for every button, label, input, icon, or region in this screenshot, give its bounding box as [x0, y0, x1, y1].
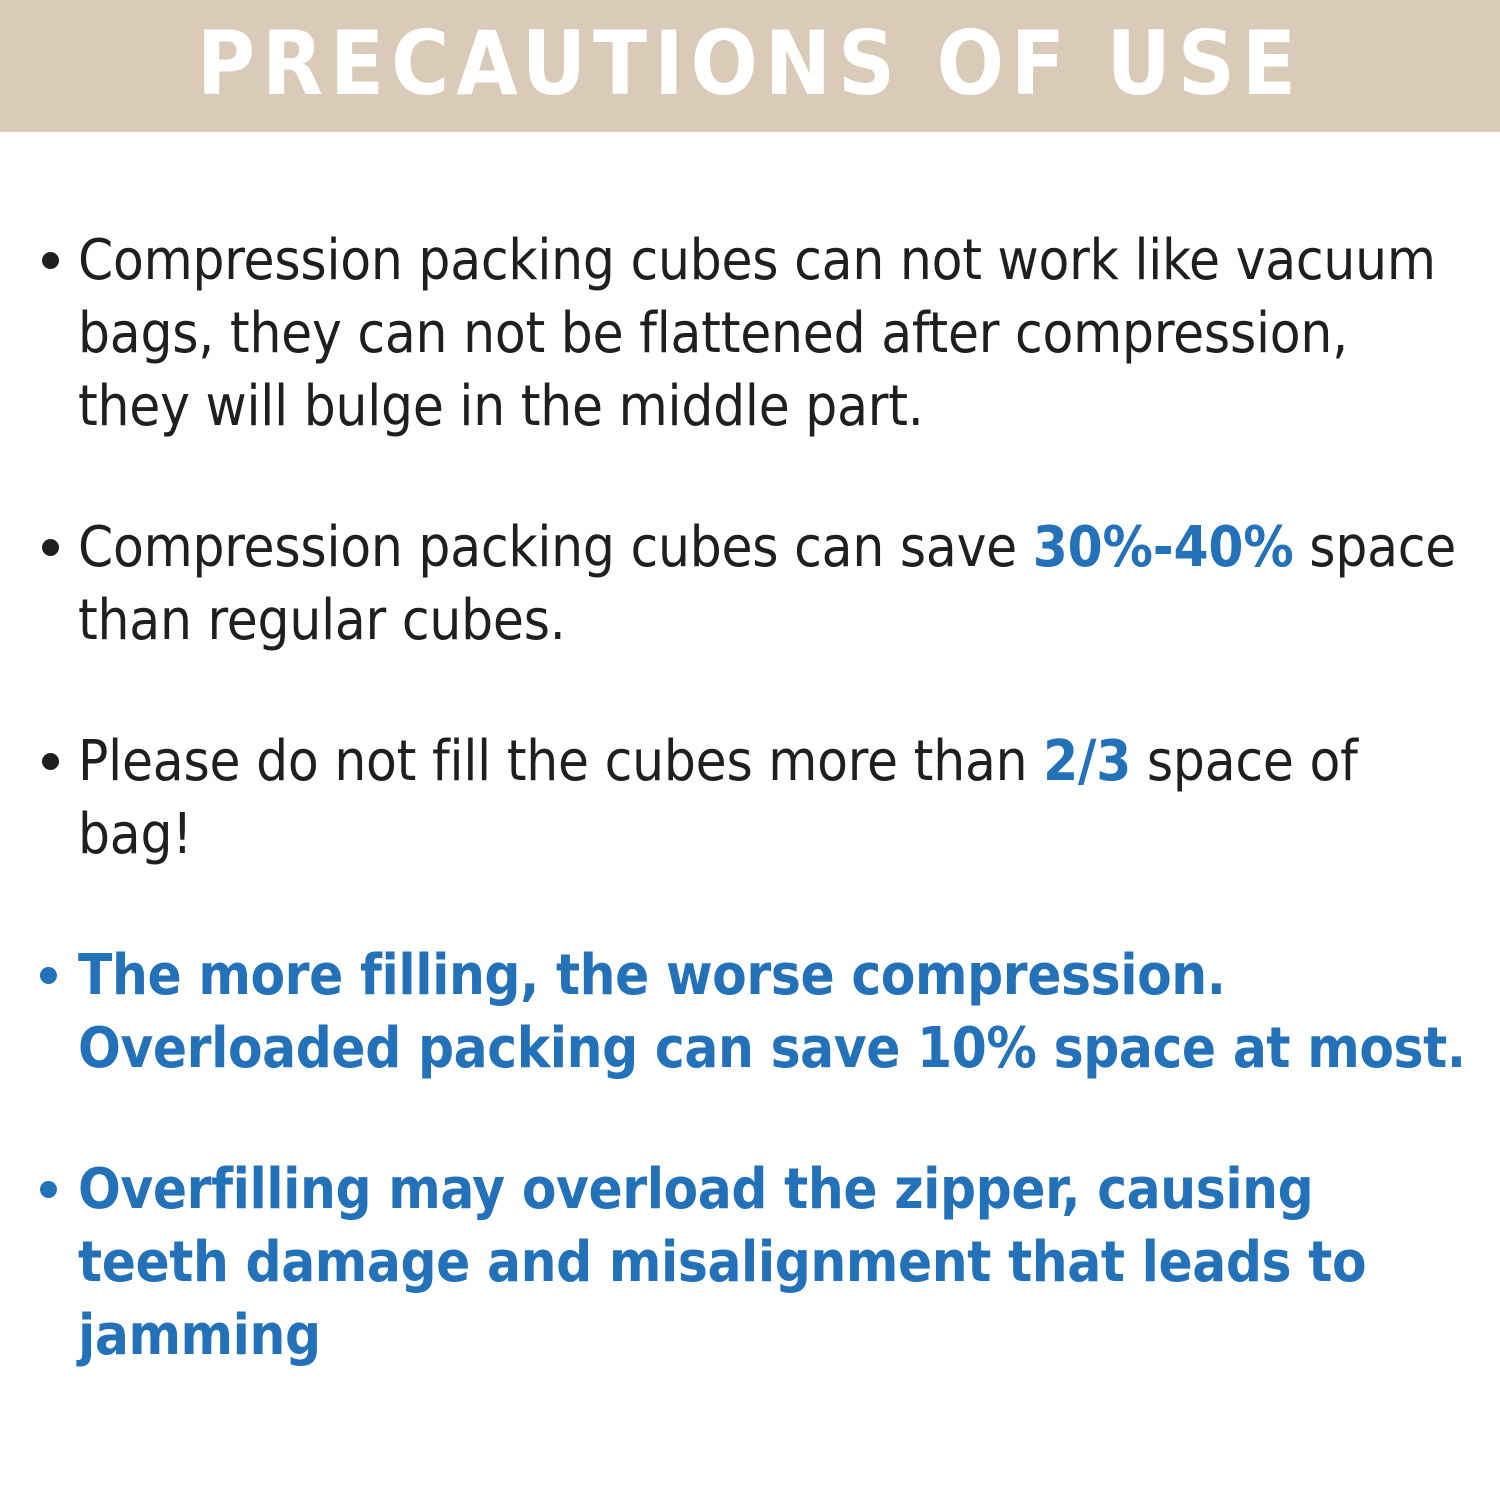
list-item-text: Compression packing cubes can save 30%-4…: [78, 515, 1456, 653]
bullet-compression-vs-vacuum: Compression packing cubes can not work l…: [0, 224, 1500, 443]
bullet-dot-icon: [42, 539, 59, 556]
page-title: PRECAUTIONS OF USE: [197, 20, 1303, 112]
list-item-text: The more filling, the worse compression.…: [78, 943, 1466, 1081]
bullet-dot-icon: [40, 1181, 57, 1198]
list-item-text: Compression packing cubes can not work l…: [78, 228, 1436, 439]
precautions-banner: PRECAUTIONS OF USE: [0, 0, 1500, 132]
bullet-dot-icon: [42, 753, 59, 770]
highlighted-value: 30%-40%: [1033, 515, 1294, 580]
precautions-list: Compression packing cubes can not work l…: [0, 224, 1500, 1372]
highlighted-value: 2/3: [1043, 729, 1131, 794]
list-item-text: Overfilling may overload the zipper, cau…: [78, 1157, 1366, 1368]
bullet-fill-limit: Please do not fill the cubes more than 2…: [0, 725, 1500, 871]
bullet-overfilling-compression: The more filling, the worse compression.…: [0, 939, 1500, 1085]
bullet-dot-icon: [42, 252, 59, 269]
list-item-text: Please do not fill the cubes more than 2…: [78, 729, 1358, 867]
bullet-space-saving: Compression packing cubes can save 30%-4…: [0, 511, 1500, 657]
bullet-zipper-damage: Overfilling may overload the zipper, cau…: [0, 1153, 1500, 1372]
bullet-dot-icon: [40, 967, 57, 984]
precautions-content: Compression packing cubes can not work l…: [0, 224, 1500, 1372]
